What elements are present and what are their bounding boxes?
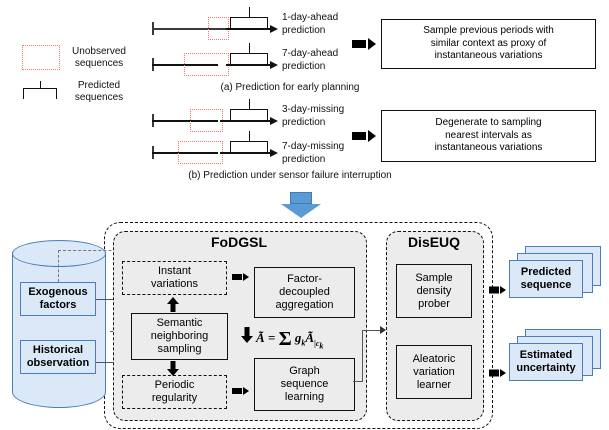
note-a-line1: Sample previous periods with [423, 25, 554, 38]
aleatoric-line1: Aleatoric [413, 353, 456, 366]
periodic-regularity-line1: Periodic [152, 379, 197, 392]
note-b-line3: instantaneous variations [435, 142, 543, 155]
historical-observation-line1: Historical [27, 344, 89, 357]
estimated-uncertainty-line1: Estimated [516, 349, 575, 362]
note-a-line3: instantaneous variations [423, 50, 554, 63]
diseuq-title: DisEUQ [386, 234, 482, 250]
semantic-sampling-line3: sampling [151, 343, 209, 356]
arrow-to-predicted-sequence [489, 283, 506, 296]
arrow-sampling-to-instant [167, 297, 179, 312]
factor-decoupled-line3: aggregation [275, 299, 333, 312]
label-7-day-ahead-line2: prediction [282, 61, 370, 73]
label-7-day-missing-line2: prediction [282, 154, 374, 166]
graph-sequence-line2: sequence [281, 378, 329, 391]
arrow-to-formula [240, 327, 253, 343]
data-store-cylinder-top [12, 240, 106, 267]
legend-predicted-label-line1: Predicted [62, 80, 136, 92]
label-3-day-missing-line1: 3-day-missing [282, 104, 374, 116]
predicted-window-1-day [230, 17, 268, 28]
unobserved-window-3-day-missing [190, 109, 223, 132]
legend-unobserved-swatch [22, 45, 60, 70]
sample-density-line1: Sample [415, 272, 452, 285]
note-box-b: Degenerate to sampling nearest intervals… [381, 110, 596, 162]
factor-decoupled-line1: Factor- [275, 273, 333, 286]
exogenous-factors-line1: Exogenous [28, 286, 87, 299]
predicted-sequence-line2: sequence [521, 279, 572, 292]
graph-sequence-line3: learning [281, 391, 329, 404]
legend-unobserved-label-line1: Unobserved [62, 46, 136, 58]
legend-unobserved-label-line2: sequences [62, 58, 136, 70]
aleatoric-variation-learner-box[interactable]: Aleatoric variation learner [396, 345, 472, 399]
caption-scenario-a: (a) Prediction for early planning [160, 82, 420, 94]
historical-observation-line2: observation [27, 357, 89, 370]
factor-decoupled-aggregation-box[interactable]: Factor- decoupled aggregation [254, 267, 355, 318]
estimated-uncertainty-line2: uncertainty [516, 362, 575, 375]
connector-graph-to-bus [362, 330, 363, 382]
semantic-sampling-line2: neighboring [151, 330, 209, 343]
historical-observation-box[interactable]: Historical observation [20, 340, 96, 374]
note-box-a: Sample previous periods with similar con… [381, 19, 596, 69]
aggregation-formula: Ã = Σ gkÃ|ck [256, 328, 323, 351]
predicted-window-7-day [230, 53, 268, 64]
exogenous-factors-box[interactable]: Exogenous factors [20, 282, 96, 316]
connector-graph-out [353, 381, 363, 382]
fodgsl-title: FoDGSL [113, 234, 365, 250]
arrow-instant-to-aggregation [232, 271, 249, 283]
instant-variations-box[interactable]: Instant variations [122, 261, 227, 295]
arrow-to-estimated-uncertainty [489, 366, 506, 379]
feedback-dash-vertical-left [58, 250, 59, 282]
instant-variations-line1: Instant [151, 265, 198, 278]
predicted-window-7-day-missing [230, 141, 268, 152]
exogenous-factors-line2: factors [28, 299, 87, 312]
sample-density-prober-box[interactable]: Sample density prober [396, 264, 472, 318]
periodic-regularity-line2: regularity [152, 392, 197, 405]
factor-decoupled-line2: decoupled [275, 286, 333, 299]
legend-predicted-label-line2: sequences [62, 92, 136, 104]
arrow-sampling-to-periodic [167, 361, 179, 376]
estimated-uncertainty-page-front: Estimated uncertainty [509, 343, 583, 381]
unobserved-window-7-day [184, 53, 229, 76]
data-store-cylinder [12, 252, 106, 408]
aleatoric-line3: learner [413, 379, 456, 392]
note-a-line2: similar context as proxy of [423, 38, 554, 51]
blue-down-arrow-icon [281, 192, 321, 218]
aleatoric-line2: variation [413, 366, 456, 379]
predicted-sequence-line1: Predicted [521, 266, 572, 279]
predicted-window-3-day-missing [230, 109, 268, 120]
arrow-to-note-b [352, 128, 376, 144]
note-b-line1: Degenerate to sampling [435, 117, 543, 130]
arrow-to-note-a [352, 36, 376, 52]
arrow-periodic-to-graph [232, 385, 249, 397]
estimated-uncertainty-stack[interactable]: Estimated uncertainty [509, 329, 603, 387]
graph-sequence-line1: Graph [281, 365, 329, 378]
predicted-sequence-stack[interactable]: Predicted sequence [509, 246, 603, 304]
caption-scenario-b: (b) Prediction under sensor failure inte… [140, 170, 440, 182]
sample-density-line3: prober [415, 298, 452, 311]
instant-variations-line2: variations [151, 278, 198, 291]
graph-sequence-learning-box[interactable]: Graph sequence learning [254, 358, 355, 411]
unobserved-window-7-day-missing [178, 141, 223, 164]
semantic-sampling-line1: Semantic [151, 317, 209, 330]
legend-predicted-bracket-icon [23, 88, 57, 99]
sample-density-line2: density [415, 285, 452, 298]
label-1-day-ahead-line1: 1-day-ahead [282, 12, 370, 24]
periodic-regularity-box[interactable]: Periodic regularity [122, 375, 227, 409]
semantic-neighboring-sampling-box[interactable]: Semantic neighboring sampling [131, 313, 228, 360]
note-b-line2: nearest intervals as [435, 130, 543, 143]
predicted-sequence-page-front: Predicted sequence [509, 260, 583, 298]
